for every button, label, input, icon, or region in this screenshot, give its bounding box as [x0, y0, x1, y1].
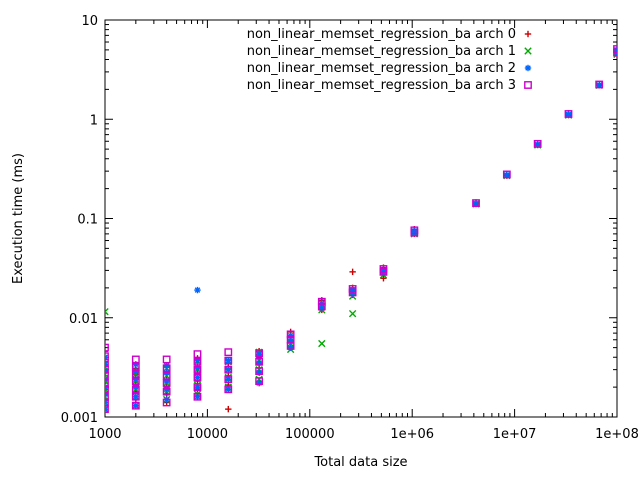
x-axis-title: Total data size	[313, 455, 407, 470]
legend-marker-2	[525, 65, 531, 71]
x-tick-label: 1e+08	[595, 427, 639, 442]
marker-square	[225, 349, 231, 355]
y-tick-label: 0.01	[69, 312, 98, 327]
x-tick-label: 100000	[285, 427, 335, 442]
y-tick-label: 0.1	[77, 213, 98, 228]
marker-square	[163, 356, 169, 362]
legend-label-2: non_linear_memset_regression_ba arch 2	[247, 61, 516, 76]
series-2	[102, 47, 620, 413]
legend-marker-0	[525, 31, 531, 37]
y-tick-label: 1	[90, 113, 98, 128]
legend-marker-1	[525, 48, 531, 54]
series-1	[102, 49, 620, 412]
x-tick-label: 1e+06	[390, 427, 434, 442]
legend-marker-3	[525, 82, 531, 88]
y-axis-title: Execution time (ms)	[11, 153, 26, 284]
chart-canvas: 0.0010.010.11101000100001000001e+061e+07…	[0, 0, 640, 480]
legend-label-1: non_linear_memset_regression_ba arch 1	[247, 44, 516, 59]
x-tick-label: 10000	[187, 427, 228, 442]
legend-label-3: non_linear_memset_regression_ba arch 3	[247, 78, 516, 93]
y-tick-label: 0.001	[61, 411, 98, 426]
series-0	[102, 45, 620, 412]
scatter-plot: 0.0010.010.11101000100001000001e+061e+07…	[0, 0, 640, 480]
x-tick-label: 1000	[88, 427, 121, 442]
y-tick-label: 10	[81, 14, 98, 29]
x-tick-label: 1e+07	[493, 427, 537, 442]
series-3	[102, 46, 620, 413]
legend-label-0: non_linear_memset_regression_ba arch 0	[247, 27, 516, 42]
marker-square	[525, 82, 531, 88]
